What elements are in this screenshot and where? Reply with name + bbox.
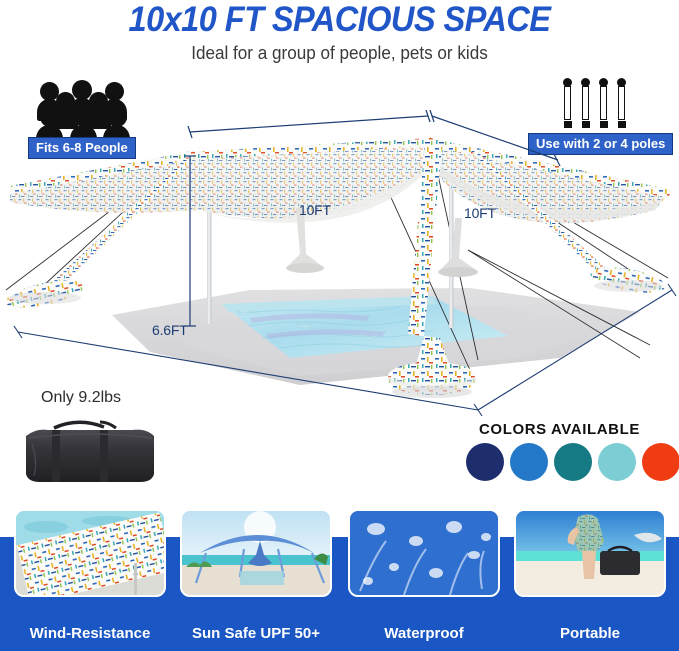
feature-card-sun-safe: Sun Safe UPF 50+	[180, 509, 332, 643]
dimension-label-height: 6.6FT	[152, 322, 188, 338]
carry-bag-icon	[20, 414, 160, 486]
color-swatch-list	[466, 443, 666, 483]
feature-image-sun-safe	[180, 509, 332, 597]
feature-label-sun-safe: Sun Safe UPF 50+	[180, 625, 332, 643]
colors-available-title: COLORS AVAILABLE	[479, 421, 640, 438]
feature-label-wind-resistance: Wind-Resistance	[14, 625, 166, 643]
feature-card-wind-resistance: Wind-Resistance	[14, 509, 166, 643]
canopy-illustration	[0, 90, 679, 420]
color-swatch-orange[interactable]	[642, 443, 679, 481]
infographic-root: 10x10 FT SPACIOUS SPACE Ideal for a grou…	[0, 0, 679, 651]
page-title: 10x10 FT SPACIOUS SPACE	[24, 0, 655, 40]
color-swatch-aqua[interactable]	[598, 443, 636, 481]
color-swatch-navy[interactable]	[466, 443, 504, 481]
feature-strip: Wind-Resistance	[0, 537, 679, 651]
page-subtitle: Ideal for a group of people, pets or kid…	[17, 42, 662, 64]
dimension-label-ridge-right: 10FT	[464, 205, 496, 221]
feature-card-waterproof: Waterproof	[348, 509, 500, 643]
color-swatch-teal[interactable]	[554, 443, 592, 481]
feature-image-wind-resistance	[14, 509, 166, 597]
color-swatch-blue[interactable]	[510, 443, 548, 481]
bag-weight-label: Only 9.2lbs	[41, 389, 121, 407]
feature-card-portable: Portable	[514, 509, 666, 643]
feature-label-portable: Portable	[514, 625, 666, 643]
canopy-diagram: 10FT 10FT 6.6FT	[0, 90, 679, 420]
feature-label-waterproof: Waterproof	[348, 625, 500, 643]
dimension-label-ridge-left: 10FT	[299, 202, 331, 218]
feature-image-waterproof	[348, 509, 500, 597]
feature-image-portable	[514, 509, 666, 597]
